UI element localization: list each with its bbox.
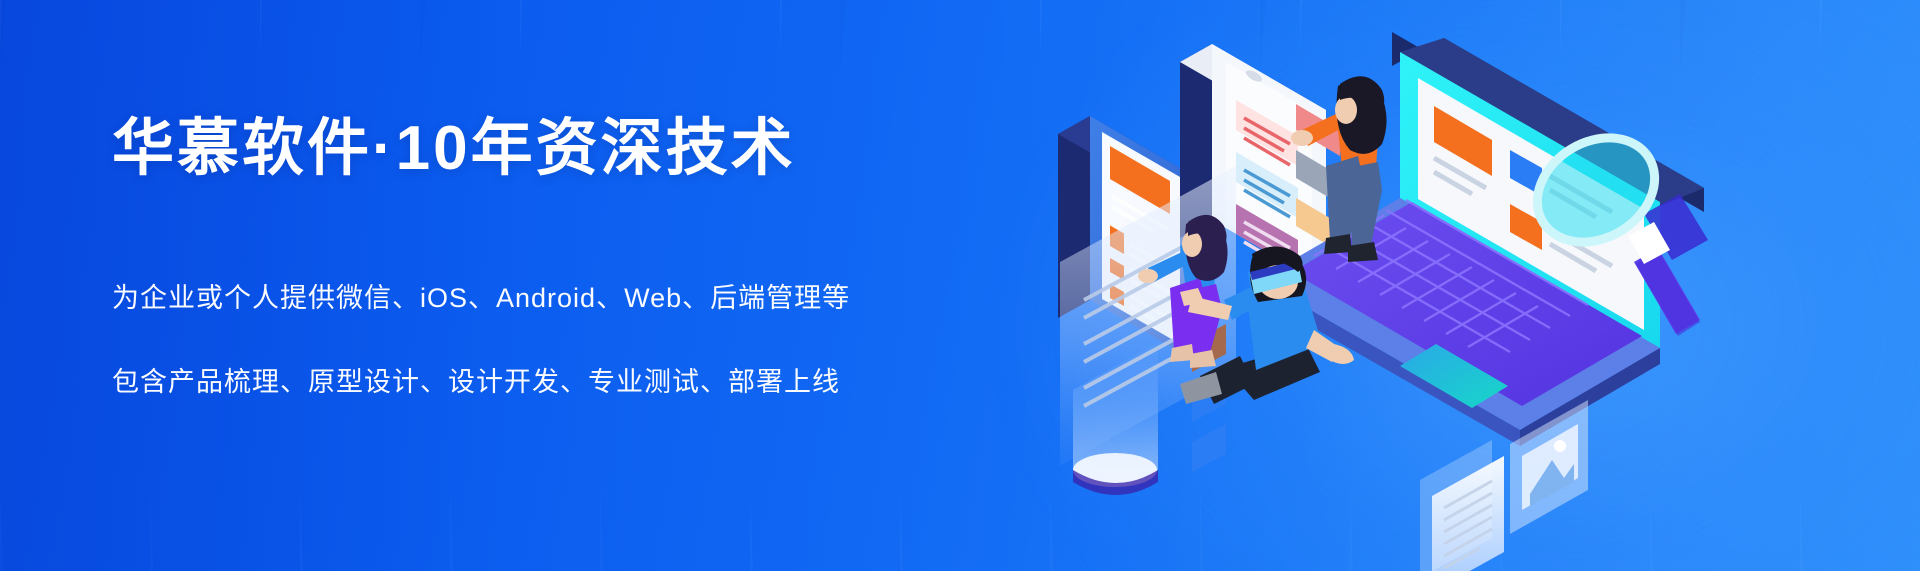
hero-copy: 华慕软件·10年资深技术 为企业或个人提供微信、iOS、Android、Web、… xyxy=(112,118,932,396)
subtitle-line-2: 包含产品梳理、原型设计、设计开发、专业测试、部署上线 xyxy=(112,369,932,396)
subtitle-line-1: 为企业或个人提供微信、iOS、Android、Web、后端管理等 xyxy=(112,285,932,312)
hero-banner: 华慕软件·10年资深技术 为企业或个人提供微信、iOS、Android、Web、… xyxy=(0,0,1920,571)
page-title: 华慕软件·10年资深技术 xyxy=(112,118,932,180)
hero-illustration xyxy=(1040,0,1920,571)
floating-document-card xyxy=(1420,440,1504,571)
